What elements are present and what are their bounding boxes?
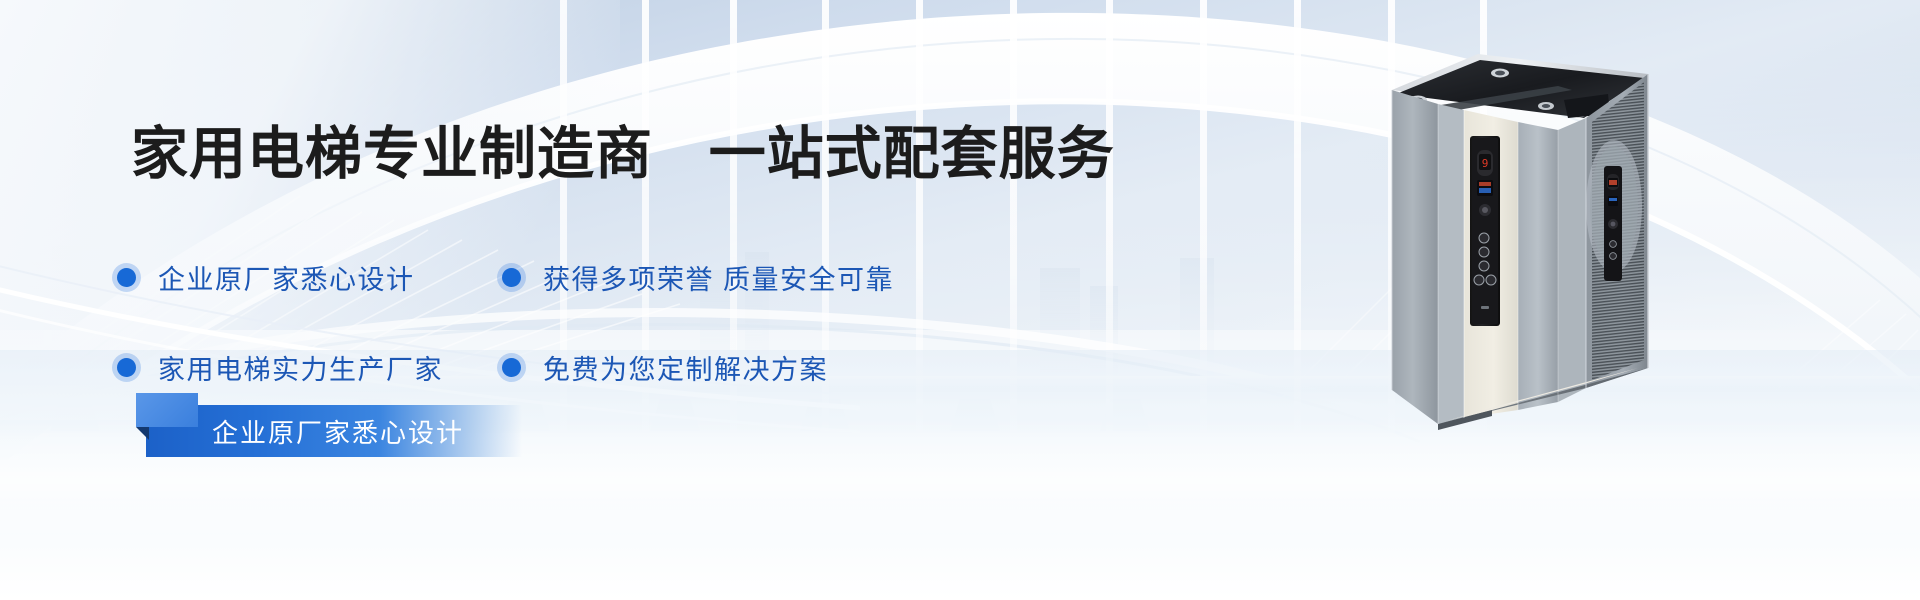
list-item-label: 获得多项荣誉 质量安全可靠 <box>543 258 894 297</box>
tag-label: 企业原厂家悉心设计 <box>212 405 464 457</box>
headline-part-1: 家用电梯专业制造商 <box>131 122 653 186</box>
bullet-dot-icon <box>502 268 521 287</box>
headline-part-2: 一站式配套服务 <box>709 122 1115 186</box>
banner-content: 家用电梯专业制造商 一站式配套服务 企业原厂家悉心设计 获得多项荣誉 质量安全可… <box>0 0 1100 600</box>
list-item-label: 家用电梯实力生产厂家 <box>158 348 443 387</box>
tag-fold-corner-icon <box>136 427 149 440</box>
elevator-illustration: 9 <box>1380 38 1680 438</box>
bullet-dot-icon <box>117 268 136 287</box>
elevator-cabin-image: 9 <box>1380 38 1680 438</box>
highlight-tag[interactable]: 企业原厂家悉心设计 <box>112 405 532 457</box>
tag-flag-shape <box>136 393 198 427</box>
bullet-dot-icon <box>117 358 136 377</box>
hero-banner: 9 <box>0 0 1920 600</box>
feature-row: 家用电梯实力生产厂家 免费为您定制解决方案 <box>108 348 1028 387</box>
list-item-label: 企业原厂家悉心设计 <box>158 258 415 297</box>
feature-list: 企业原厂家悉心设计 获得多项荣誉 质量安全可靠 家用电梯实力生产厂家 免费为您定… <box>108 258 1028 387</box>
bullet-dot-icon <box>502 358 521 377</box>
list-item: 企业原厂家悉心设计 <box>108 258 493 297</box>
list-item: 家用电梯实力生产厂家 <box>108 348 493 387</box>
list-item: 获得多项荣誉 质量安全可靠 <box>493 258 1013 297</box>
page-title: 家用电梯专业制造商 一站式配套服务 <box>131 126 1115 183</box>
feature-row: 企业原厂家悉心设计 获得多项荣誉 质量安全可靠 <box>108 258 1028 297</box>
list-item-label: 免费为您定制解决方案 <box>543 348 828 387</box>
list-item: 免费为您定制解决方案 <box>493 348 1013 387</box>
svg-text:9: 9 <box>1482 157 1489 170</box>
